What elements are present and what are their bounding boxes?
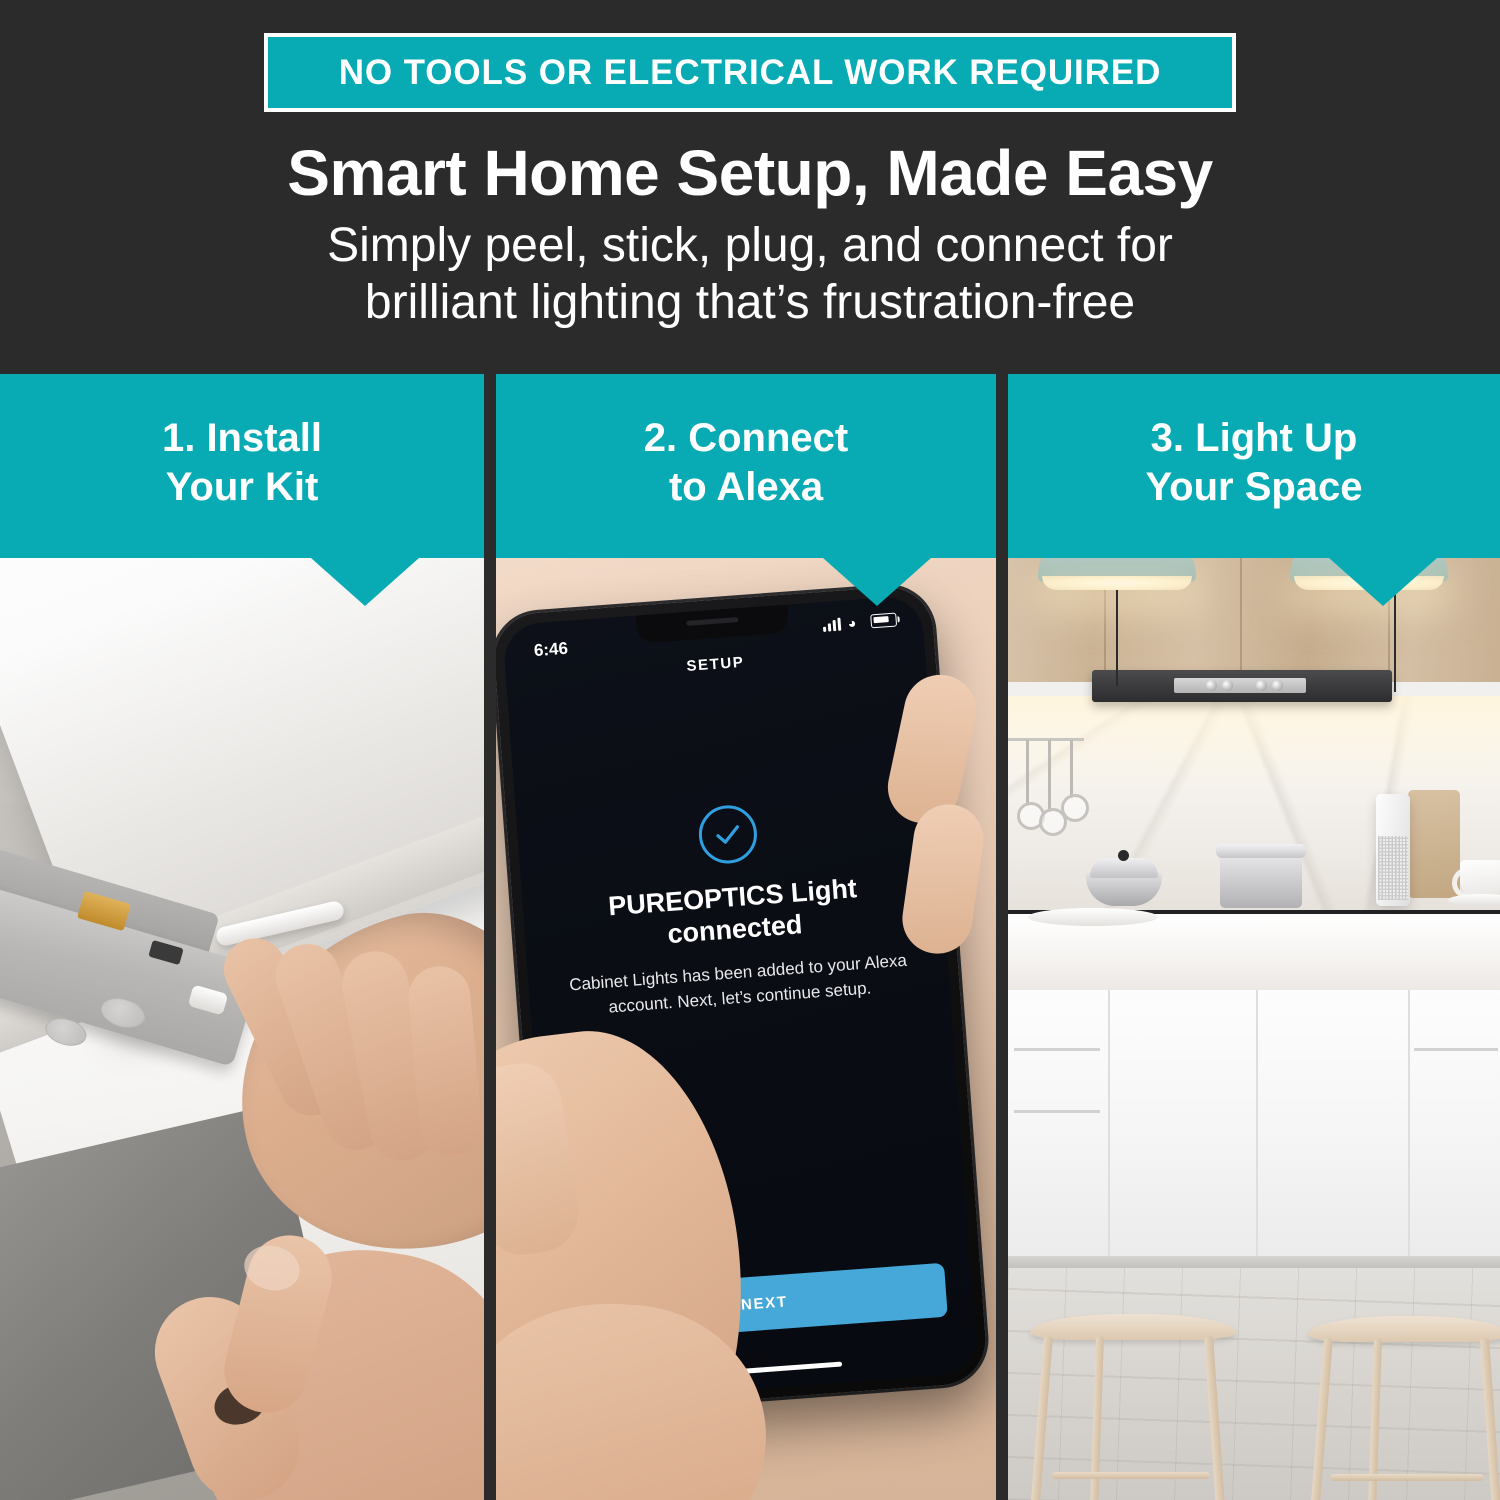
coffee-mug <box>1460 860 1500 898</box>
hood-knob <box>1272 680 1283 691</box>
wifi-icon: ◕ <box>847 615 864 629</box>
page-subtitle: Simply peel, stick, plug, and connect fo… <box>0 218 1500 331</box>
hood-knob <box>1222 680 1233 691</box>
hanging-wire <box>1116 590 1118 686</box>
lower-cabinet-seam <box>1408 990 1410 1262</box>
pot-lid <box>1216 844 1306 858</box>
wood-floor <box>1008 1268 1500 1500</box>
under-cabinet-light-glow <box>1008 696 1500 792</box>
battery-icon <box>870 613 897 629</box>
step-1-line-1: 1. Install <box>0 414 484 463</box>
bar-stool-seat <box>1308 1316 1500 1342</box>
signal-icon <box>822 617 841 631</box>
step-2-line-1: 2. Connect <box>496 414 996 463</box>
next-button-label: NEXT <box>740 1293 788 1313</box>
status-bar-time: 6:46 <box>533 639 568 661</box>
step-2-label: 2. Connect to Alexa <box>496 414 996 512</box>
utensil-handle <box>1048 740 1051 812</box>
utensil-handle <box>1026 740 1029 806</box>
stock-pot <box>1220 854 1302 908</box>
cabinet-handle <box>1014 1110 1100 1113</box>
page-title: Smart Home Setup, Made Easy <box>0 140 1500 207</box>
step-panel-light-up: 3. Light Up Your Space <box>1008 374 1500 1500</box>
pendant-light-glow <box>1042 576 1192 590</box>
subtitle-line-1: Simply peel, stick, plug, and connect fo… <box>0 218 1500 275</box>
cabinet-toe-kick <box>1008 1256 1500 1268</box>
plate <box>1028 908 1158 926</box>
echo-speaker-grille <box>1378 836 1408 900</box>
status-bar-icons: ◕ <box>822 613 897 632</box>
utensil-head <box>1061 794 1089 822</box>
lower-cabinet-seam <box>1256 990 1258 1262</box>
step-2-notch-arrow <box>823 558 931 606</box>
app-screen-title: SETUP <box>505 641 925 689</box>
connected-title: PUREOPTICS Light connected <box>522 866 946 961</box>
pan-lid <box>1090 858 1158 878</box>
connected-body-text: Cabinet Lights has been added to your Al… <box>564 948 915 1023</box>
cabinet-handle <box>1014 1048 1100 1051</box>
subtitle-line-2: brilliant lighting that’s frustration-fr… <box>0 275 1500 332</box>
no-tools-banner: NO TOOLS OR ELECTRICAL WORK REQUIRED <box>264 33 1236 112</box>
banner-label: NO TOOLS OR ELECTRICAL WORK REQUIRED <box>339 55 1162 90</box>
success-check-icon <box>697 803 759 865</box>
step-3-notch-arrow <box>1329 558 1437 606</box>
cabinet-handle <box>1414 1048 1498 1051</box>
step-2-line-2: to Alexa <box>496 463 996 512</box>
stool-rung <box>1052 1472 1210 1479</box>
infographic-root: NO TOOLS OR ELECTRICAL WORK REQUIRED Sma… <box>0 0 1500 1500</box>
step-1-notch-arrow <box>311 558 419 606</box>
step-panel-install: 1. Install Your Kit <box>0 374 484 1500</box>
header-section: NO TOOLS OR ELECTRICAL WORK REQUIRED Sma… <box>0 0 1500 374</box>
white-lower-cabinets <box>1008 990 1500 1262</box>
step-panel-connect: 6:46 ◕ SETUP PUREOPTICS Light connected <box>496 374 996 1500</box>
pan-lid-knob <box>1118 850 1129 861</box>
step-1-line-2: Your Kit <box>0 463 484 512</box>
stool-rung <box>1330 1474 1484 1481</box>
utensil-handle <box>1070 740 1073 798</box>
hood-knob <box>1256 680 1267 691</box>
step-1-label: 1. Install Your Kit <box>0 414 484 512</box>
lower-cabinet-seam <box>1108 990 1110 1262</box>
hood-knob <box>1206 680 1217 691</box>
step-3-label: 3. Light Up Your Space <box>1008 414 1500 512</box>
step-3-line-1: 3. Light Up <box>1008 414 1500 463</box>
range-hood-control-panel <box>1174 678 1306 693</box>
step-3-line-2: Your Space <box>1008 463 1500 512</box>
